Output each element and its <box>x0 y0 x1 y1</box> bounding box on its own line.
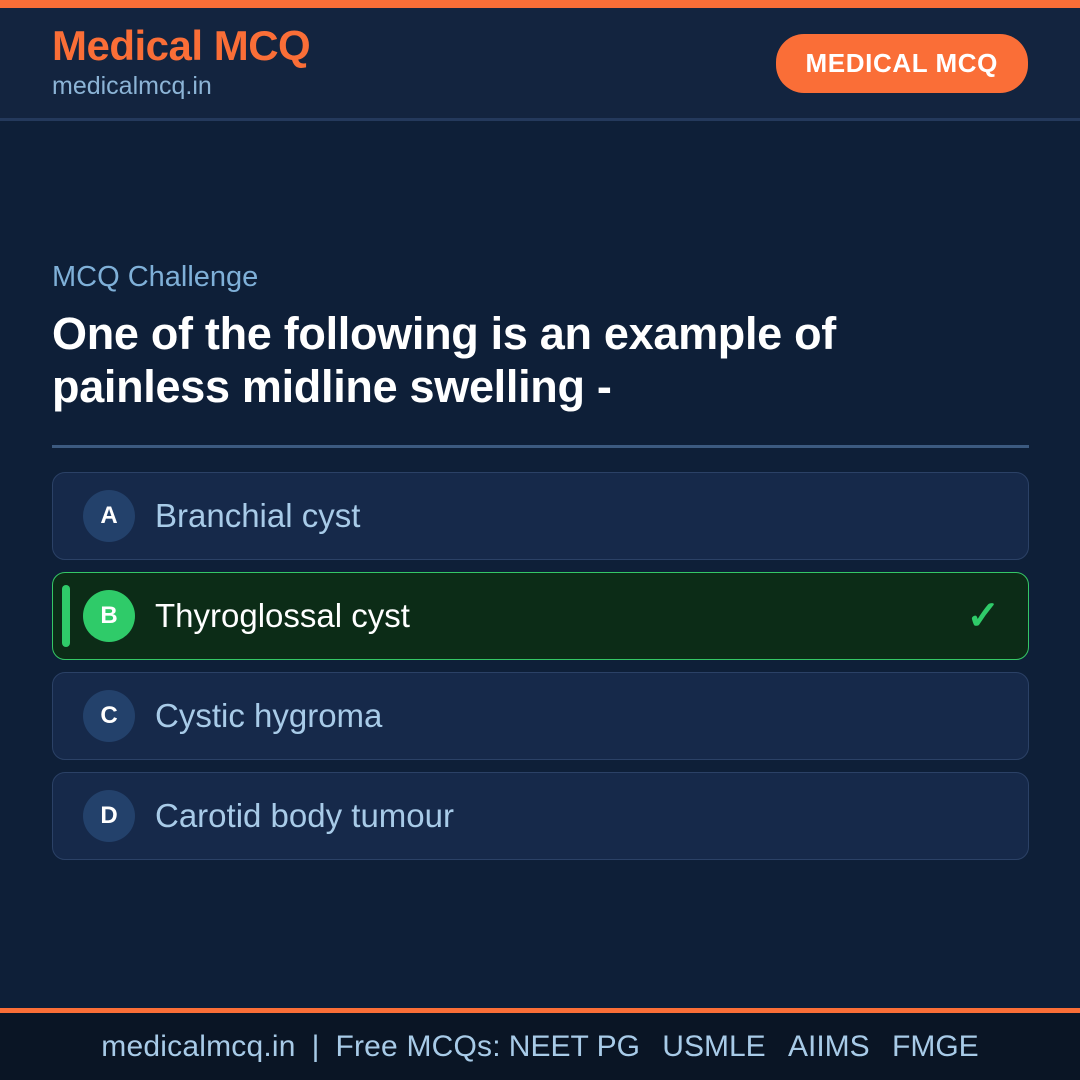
option-row-b[interactable]: B Thyroglossal cyst ✓ <box>52 572 1029 660</box>
brand-badge: MEDICAL MCQ <box>776 34 1028 93</box>
question-divider <box>52 445 1029 448</box>
option-label-c: Cystic hygroma <box>155 698 1000 734</box>
option-label-b: Thyroglossal cyst <box>155 598 950 634</box>
footer-exam-fmge: FMGE <box>892 1030 979 1063</box>
brand-title: Medical MCQ <box>52 24 310 68</box>
option-label-a: Branchial cyst <box>155 498 1000 534</box>
footer-site: medicalmcq.in <box>101 1030 295 1064</box>
brand-block: Medical MCQ medicalmcq.in <box>52 24 310 103</box>
footer-exam-aiims: AIIMS <box>788 1030 870 1063</box>
main-content: MCQ Challenge One of the following is an… <box>0 124 1080 1008</box>
option-row-d[interactable]: D Carotid body tumour ✓ <box>52 772 1029 860</box>
option-letter-b: B <box>83 590 135 642</box>
correct-accent-bar <box>62 585 70 647</box>
footer-exam-neetpg: NEET PG <box>509 1030 640 1063</box>
question-text: One of the following is an example of pa… <box>52 308 932 413</box>
footer-exam-usmle: USMLE <box>662 1030 765 1063</box>
check-icon-b: ✓ <box>966 596 1000 636</box>
option-letter-c: C <box>83 690 135 742</box>
footer-prefix: Free MCQs: <box>335 1030 500 1064</box>
question-kicker: MCQ Challenge <box>52 262 1028 294</box>
top-accent-rule <box>0 0 1080 8</box>
brand-subtitle: medicalmcq.in <box>52 70 310 103</box>
option-label-d: Carotid body tumour <box>155 798 1000 834</box>
footer-separator: | <box>296 1030 336 1064</box>
options-list: A Branchial cyst ✓ B Thyroglossal cyst ✓… <box>52 472 1028 860</box>
option-row-c[interactable]: C Cystic hygroma ✓ <box>52 672 1029 760</box>
option-letter-d: D <box>83 790 135 842</box>
option-letter-a: A <box>83 490 135 542</box>
option-row-a[interactable]: A Branchial cyst ✓ <box>52 472 1029 560</box>
footer-exam-list: NEET PG USMLE AIIMS FMGE <box>501 1030 979 1064</box>
app-header: Medical MCQ medicalmcq.in MEDICAL MCQ <box>0 8 1080 121</box>
app-footer: medicalmcq.in | Free MCQs: NEET PG USMLE… <box>0 1013 1080 1080</box>
question-block: MCQ Challenge One of the following is an… <box>52 124 1028 413</box>
